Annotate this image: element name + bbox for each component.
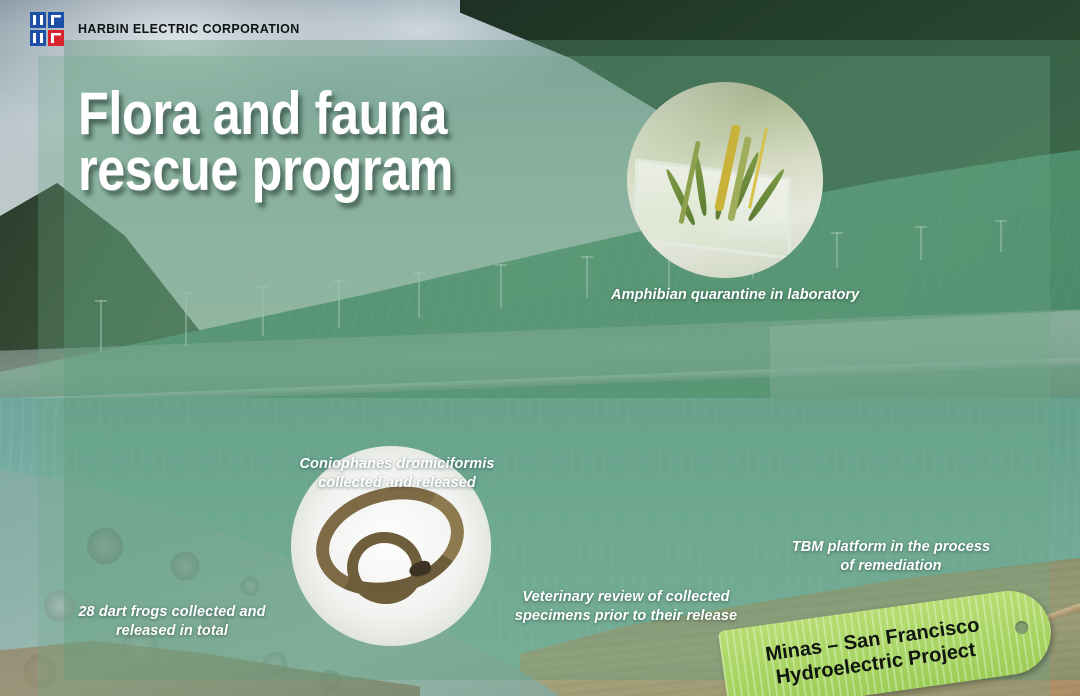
caption-amphibian-lab: Amphibian quarantine in laboratory — [611, 286, 901, 305]
caption-tbm-platform: TBM platform in the process of remediati… — [766, 538, 1016, 575]
terrarium-plants — [667, 140, 787, 240]
slide-title: Flora and fauna rescue program — [78, 86, 453, 199]
brand-header: HARBIN ELECTRIC CORPORATION — [30, 12, 300, 46]
logo-cell-bottom-left — [30, 30, 46, 46]
harbin-electric-logo-icon — [30, 12, 64, 46]
photo-amphibian-lab — [627, 82, 823, 278]
logo-cell-bottom-right — [48, 30, 64, 46]
logo-cell-top-left — [30, 12, 46, 28]
caption-dart-frog: 28 dart frogs collected and released in … — [52, 603, 292, 640]
caption-snake: Coniophanes dromiciformis collected and … — [286, 455, 508, 492]
logo-cell-top-right — [48, 12, 64, 28]
corporation-name: HARBIN ELECTRIC CORPORATION — [78, 22, 300, 36]
caption-veterinary-review: Veterinary review of collected specimens… — [492, 588, 760, 625]
slide: HARBIN ELECTRIC CORPORATION Flora and fa… — [0, 0, 1080, 696]
